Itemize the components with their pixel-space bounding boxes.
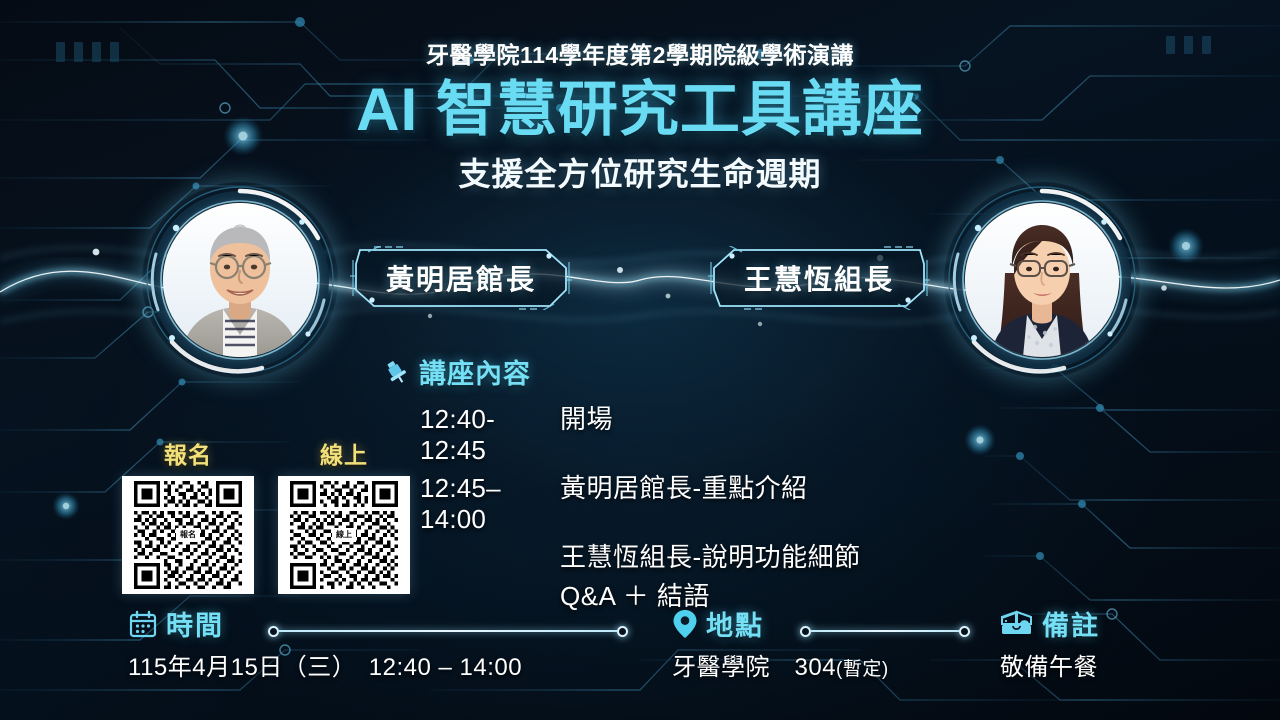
qr-center-label-online: 線上: [332, 528, 356, 542]
agenda-heading: 講座內容: [382, 352, 861, 391]
agenda-desc: 黃明居館長-重點介紹: [560, 468, 808, 505]
info-item-place: 地點 牙醫學院 304(暫定): [672, 604, 889, 682]
place-suffix: (暫定): [836, 659, 889, 680]
agenda-heading-label: 講座內容: [419, 352, 531, 391]
agenda-desc: 王慧恆組長-說明功能細節: [560, 537, 861, 574]
calendar-icon: [128, 609, 158, 639]
info-head-place: 地點: [672, 604, 889, 643]
agenda-row: 12:45–14:00 黃明居館長-重點介紹: [382, 468, 861, 535]
seminar-poster: 牙醫學院114學年度第2學期院級學術演講 AI 智慧研究工具講座 支援全方位研究…: [0, 0, 1280, 720]
agenda-row: 12:40-12:45 開場: [382, 399, 861, 466]
location-pin-icon: [672, 609, 698, 639]
qr-caption-registration: 報名: [122, 436, 254, 470]
connector-dot: [959, 626, 970, 637]
qr-center-label-registration: 報名: [176, 528, 200, 542]
qr-code-registration[interactable]: 報名: [122, 476, 254, 594]
poster-header: 牙醫學院114學年度第2學期院級學術演講 AI 智慧研究工具講座 支援全方位研究…: [0, 0, 1280, 195]
qr-caption-online: 線上: [278, 436, 410, 470]
info-value-time: 115年4月15日（三） 12:40 – 14:00: [128, 647, 522, 682]
agenda-row: 王慧恆組長-說明功能細節: [382, 537, 861, 574]
qr-code-area: 報名: [122, 436, 410, 594]
info-item-note: 備註 敬備午餐: [1000, 604, 1100, 682]
speaker-name-left: 黃明居館長: [350, 246, 572, 310]
page-title: AI 智慧研究工具講座: [0, 78, 1280, 143]
qr-block-registration: 報名: [122, 436, 254, 594]
info-item-time: 時間 115年4月15日（三） 12:40 – 14:00: [128, 604, 522, 682]
info-value-note: 敬備午餐: [1000, 647, 1100, 682]
speaker-photo-huang: [163, 203, 317, 357]
info-value-place: 牙醫學院 304(暫定): [672, 647, 889, 682]
nameplate-left: 黃明居館長: [350, 246, 572, 310]
eyebrow-text: 牙醫學院114學年度第2學期院級學術演講: [0, 36, 1280, 70]
speaker-portrait-left: [142, 182, 338, 378]
place-main: 牙醫學院 304: [672, 654, 836, 681]
agenda-desc: 開場: [560, 399, 613, 436]
qr-block-online: 線上: [278, 436, 410, 594]
pushpin-icon: [382, 358, 410, 386]
speaker-name-right: 王慧恆組長: [708, 246, 930, 310]
page-subtitle: 支援全方位研究生命週期: [0, 149, 1280, 195]
connector-dot: [617, 626, 628, 637]
lunchbox-icon: [1000, 610, 1034, 638]
info-head-time: 時間: [128, 604, 522, 643]
info-label-place: 地點: [706, 604, 764, 643]
speaker-photo-wang: [965, 203, 1119, 357]
nameplate-right: 王慧恆組長: [708, 246, 930, 310]
info-label-time: 時間: [166, 604, 224, 643]
qr-code-online[interactable]: 線上: [278, 476, 410, 594]
bottom-info-bar: 時間 115年4月15日（三） 12:40 – 14:00 地點 牙醫學院 30…: [0, 604, 1280, 696]
info-label-note: 備註: [1042, 604, 1100, 643]
agenda-section: 講座內容 12:40-12:45 開場 12:45–14:00 黃明居館長-重點…: [382, 352, 861, 613]
info-head-note: 備註: [1000, 604, 1100, 643]
speaker-portrait-right: [944, 182, 1140, 378]
